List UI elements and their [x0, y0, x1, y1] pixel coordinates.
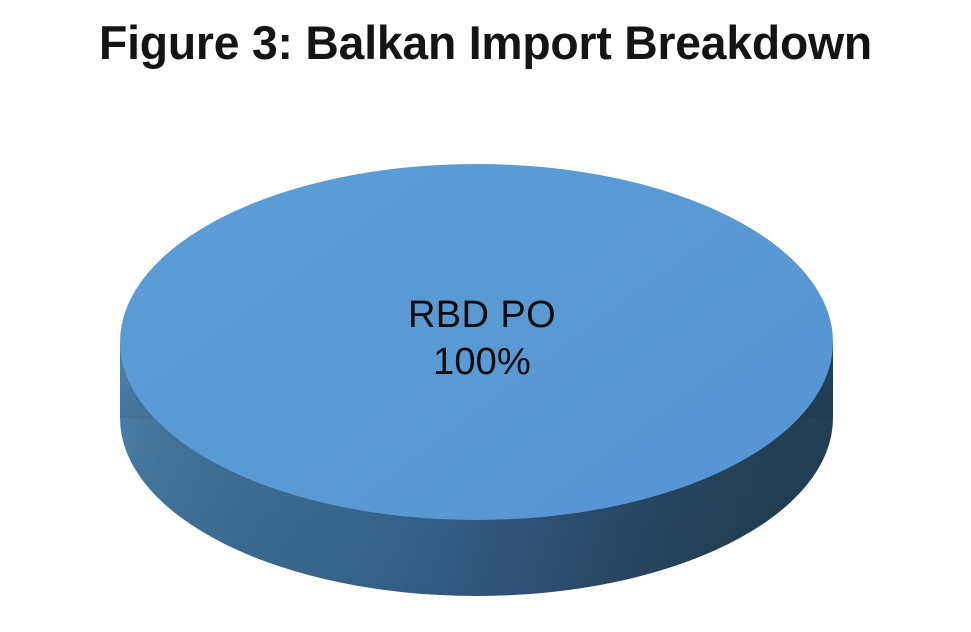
- pie-slice-top-rbd-po: [120, 164, 833, 520]
- pie-chart: [0, 0, 971, 632]
- figure-root: Figure 3: Balkan Import Breakdown: [0, 0, 971, 632]
- pie-chart-graphic[interactable]: [0, 0, 971, 632]
